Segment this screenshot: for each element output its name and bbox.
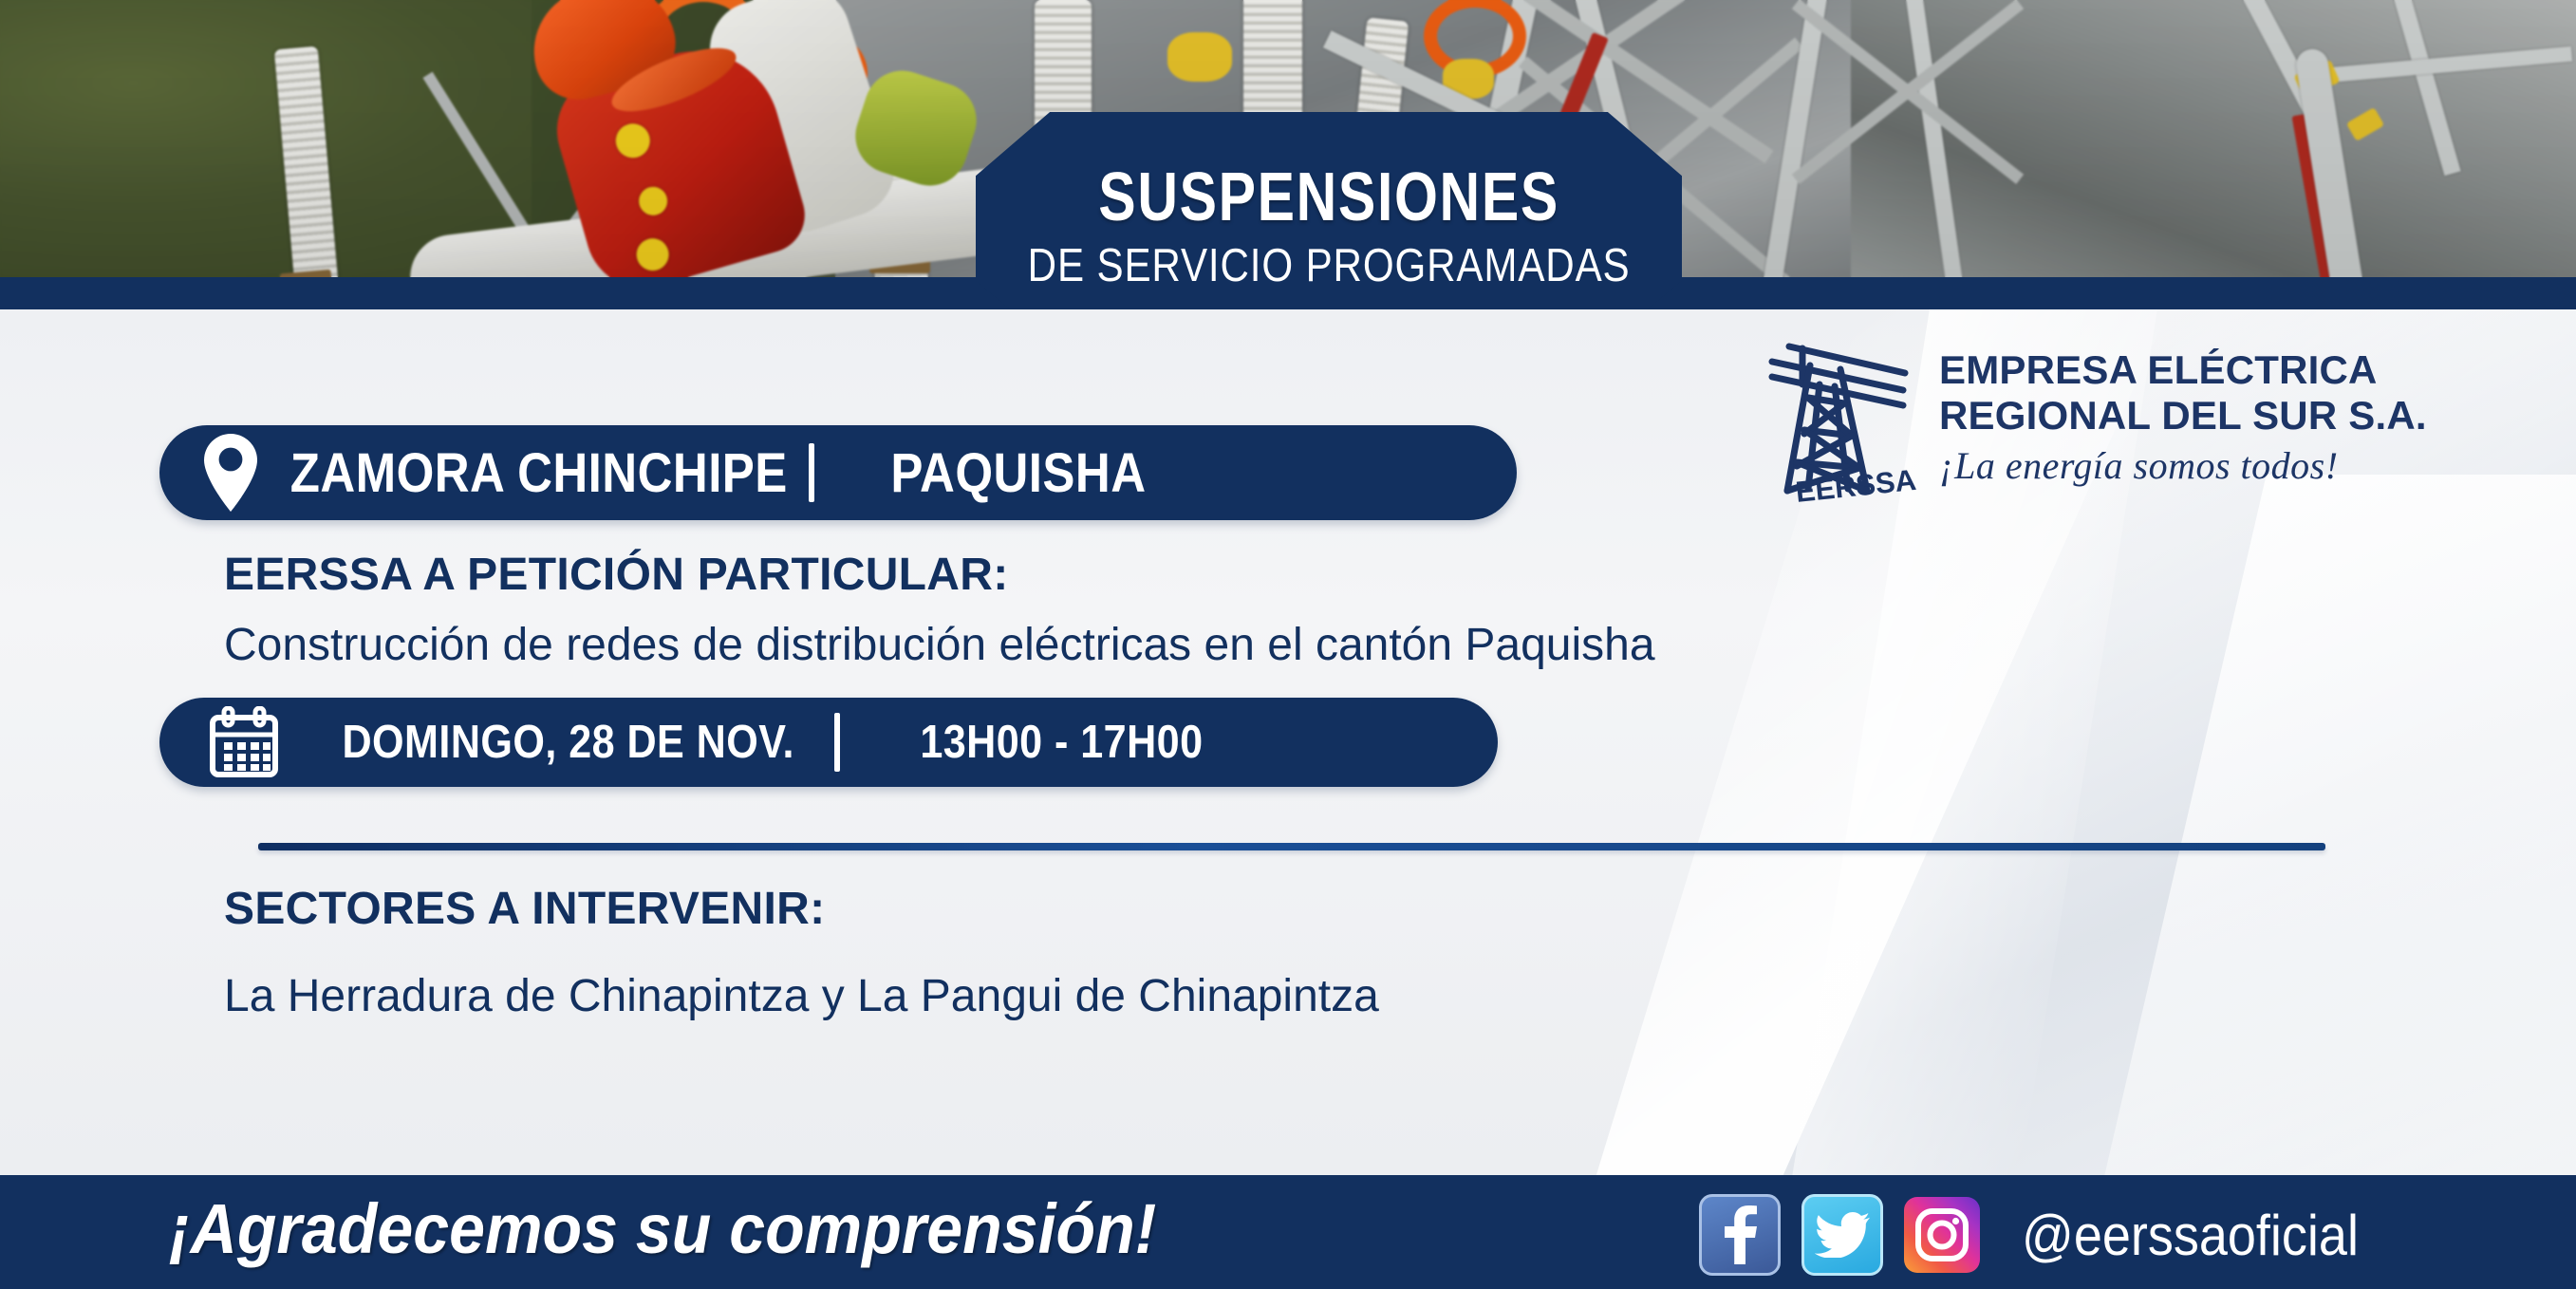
logo-line-2: REGIONAL DEL SUR S.A. — [1939, 393, 2427, 438]
logo-slogan: ¡La energía somos todos! — [1939, 443, 2427, 488]
location-pill: ZAMORA CHINCHIPE PAQUISHA — [159, 425, 1517, 520]
twitter-icon[interactable] — [1801, 1194, 1883, 1276]
reason-heading: EERSSA A PETICIÓN PARTICULAR: — [224, 549, 1009, 601]
sectors-heading: SECTORES A INTERVENIR: — [224, 883, 825, 935]
instagram-icon[interactable] — [1904, 1197, 1980, 1273]
footer-message: ¡Agradecemos su comprensión! — [169, 1188, 1156, 1269]
logo-line-1: EMPRESA ELÉCTRICA — [1939, 347, 2427, 392]
canton-label: PAQUISHA — [890, 441, 1146, 505]
calendar-icon — [209, 706, 279, 778]
eerssa-logo: EERSSA EMPRESA ELÉCTRICA REGIONAL DEL SU… — [1761, 323, 2416, 513]
schedule-time: 13H00 - 17H00 — [921, 716, 1204, 769]
banner-title: SUSPENSIONES — [1098, 163, 1559, 232]
transmission-tower-icon: EERSSA — [1761, 327, 1922, 508]
facebook-icon[interactable] — [1699, 1194, 1781, 1276]
schedule-date: DOMINGO, 28 DE NOV. — [342, 716, 793, 769]
social-links: @eerssaoficial — [1699, 1194, 2396, 1276]
suspension-notice-poster: SUSPENSIONES DE SERVICIO PROGRAMADAS — [0, 0, 2576, 1289]
social-handle[interactable]: @eerssaoficial — [2022, 1203, 2359, 1268]
section-divider — [258, 843, 2325, 850]
map-pin-icon — [201, 432, 260, 514]
reason-description: Construcción de redes de distribución el… — [224, 619, 1655, 671]
location-separator — [809, 443, 814, 502]
banner-badge: SUSPENSIONES DE SERVICIO PROGRAMADAS — [976, 112, 1682, 340]
schedule-pill: DOMINGO, 28 DE NOV. 13H00 - 17H00 — [159, 698, 1498, 787]
province-label: ZAMORA CHINCHIPE — [290, 441, 788, 505]
sectors-value: La Herradura de Chinapintza y La Pangui … — [224, 970, 1379, 1022]
banner-subtitle: DE SERVICIO PROGRAMADAS — [1028, 243, 1631, 290]
schedule-separator — [834, 713, 840, 772]
